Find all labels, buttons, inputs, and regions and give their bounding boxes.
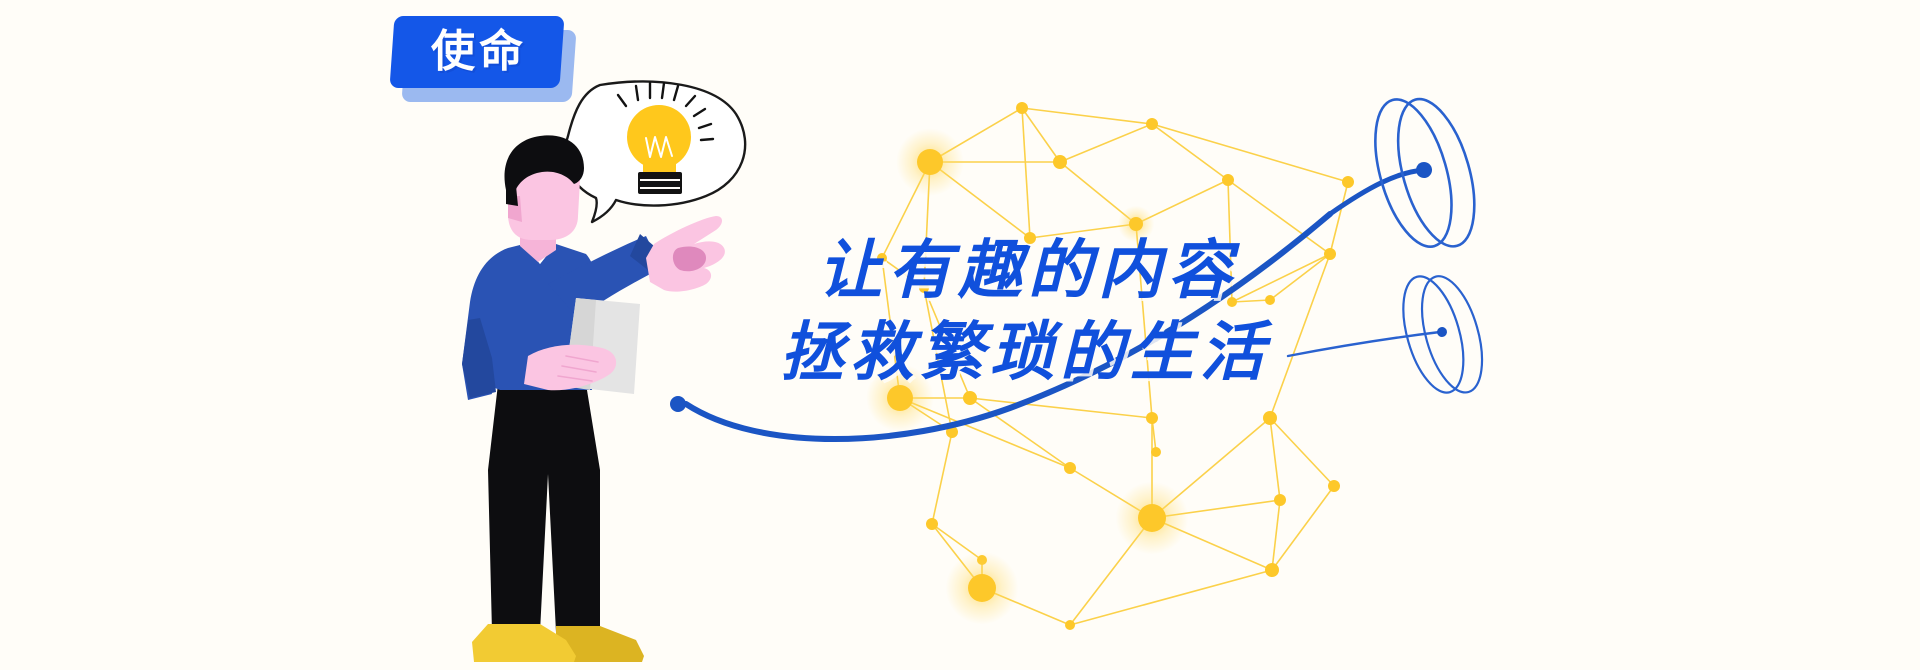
person-hair-sideburn [506,186,518,206]
mission-badge: 使命 [392,16,562,88]
mission-banner: 让有趣的内容 拯救繁琐的生活 使命 [0,0,1920,670]
person-illustration [0,0,1920,670]
person-pointing-hand [646,216,725,292]
speech-bubble-lightbulb [565,82,745,222]
mission-badge-face: 使命 [389,16,564,88]
mission-badge-label: 使命 [427,30,527,74]
lightbulb-glass [627,105,691,169]
lightbulb-base [638,172,682,194]
person-trousers [488,384,600,632]
